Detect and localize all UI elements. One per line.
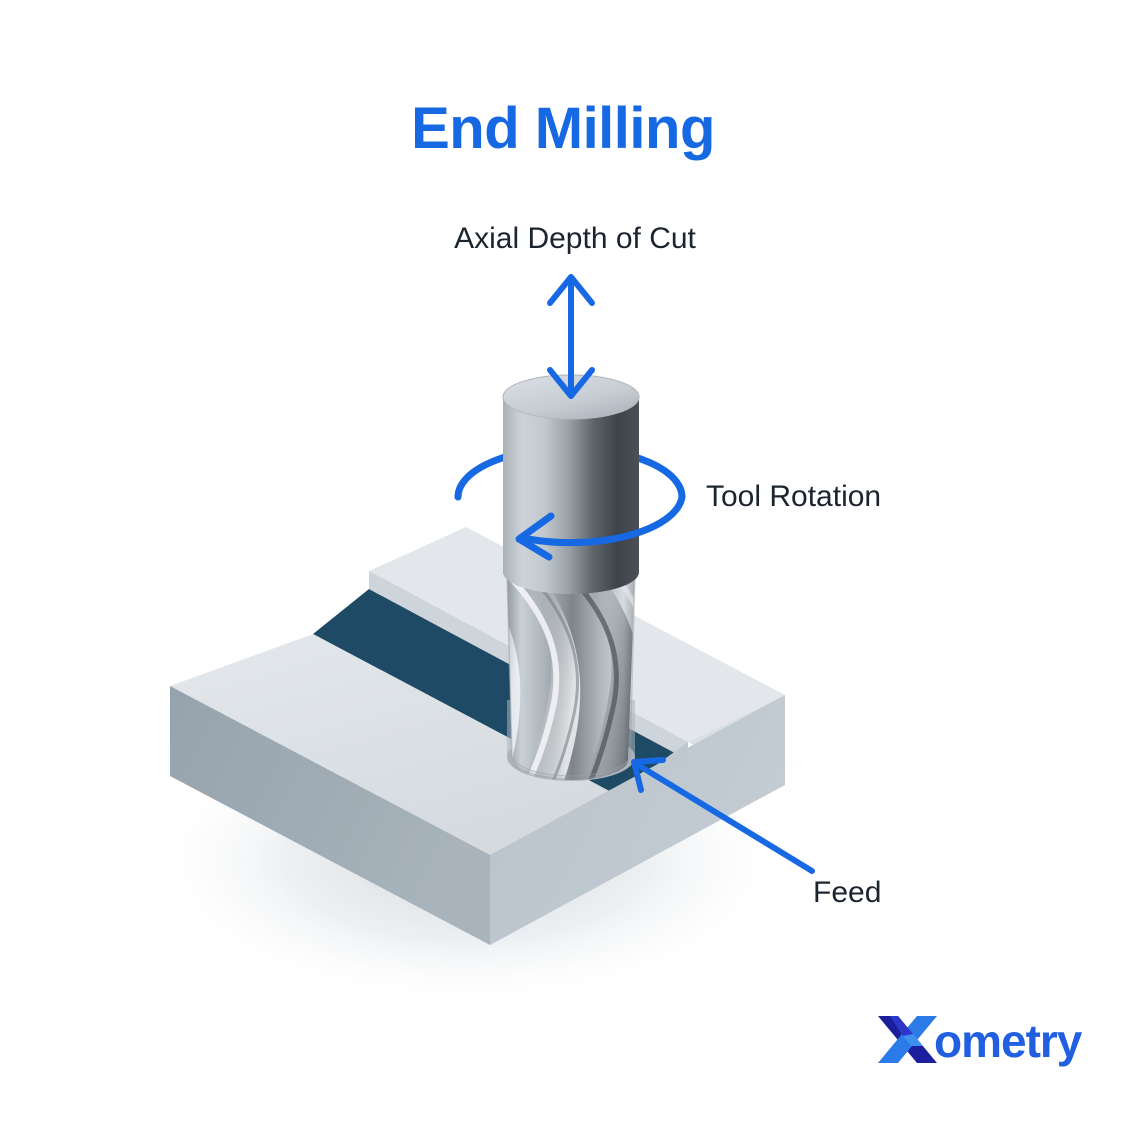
label-axial-depth-of-cut: Axial Depth of Cut — [454, 222, 696, 255]
label-feed: Feed — [813, 876, 881, 909]
shank-occluder — [503, 375, 639, 594]
diagram-canvas: End Milling Axial Depth of Cut Tool Rota… — [0, 0, 1125, 1125]
end-milling-illustration: End Milling Axial Depth of Cut Tool Rota… — [0, 0, 1125, 1125]
xometry-x-icon — [878, 1016, 937, 1063]
xometry-wordmark: ometry — [934, 1015, 1083, 1067]
page-title: End Milling — [411, 96, 715, 161]
axial-depth-of-cut-arrow[interactable] — [550, 277, 592, 396]
xometry-logo[interactable]: ometry — [878, 1015, 1083, 1067]
label-tool-rotation: Tool Rotation — [706, 480, 881, 513]
